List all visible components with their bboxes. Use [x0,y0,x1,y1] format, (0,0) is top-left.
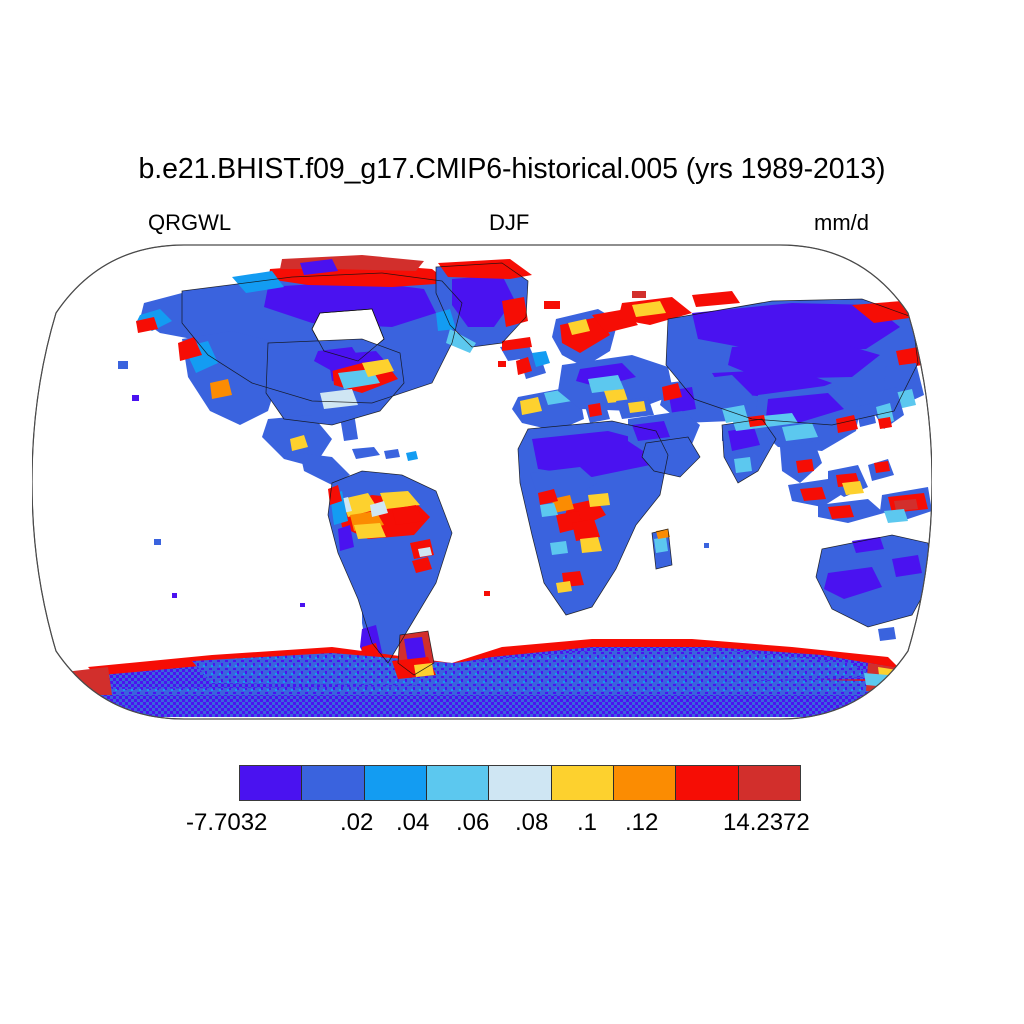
climate-map-figure: b.e21.BHIST.f09_g17.CMIP6-historical.005… [0,0,1024,1024]
season-label: DJF [489,210,529,236]
colorbar-tick-5: .1 [577,808,597,838]
colorbar-tick-3: .06 [456,808,489,838]
colorbar-segment-violet-blue [240,766,302,800]
variable-label: QRGWL [148,210,231,236]
map-svg [32,243,932,721]
colorbar-segment-brick-red [739,766,800,800]
colorbar-segment-ice-blue [489,766,551,800]
units-label: mm/d [814,210,869,236]
colorbar-tick-4: .08 [515,808,548,838]
colorbar-tick-2: .04 [396,808,429,838]
colorbar-tick-7: 14.2372 [723,808,810,838]
colorbar-segment-sky-blue [427,766,489,800]
map-panel [32,243,932,721]
colorbar-tick-6: .12 [625,808,658,838]
colorbar-segment-azure [365,766,427,800]
colorbar-tick-0: -7.7032 [186,808,267,838]
figure-title: b.e21.BHIST.f09_g17.CMIP6-historical.005… [0,152,1024,186]
colorbar-segment-royal-blue [302,766,364,800]
colorbar-tick-labels: -7.7032.02.04.06.08.1.1214.2372 [0,808,1024,842]
colorbar-segment-red [676,766,738,800]
colorbar-tick-1: .02 [340,808,373,838]
colorbar-segment-gold [552,766,614,800]
colorbar [239,765,801,801]
colorbar-segment-orange [614,766,676,800]
